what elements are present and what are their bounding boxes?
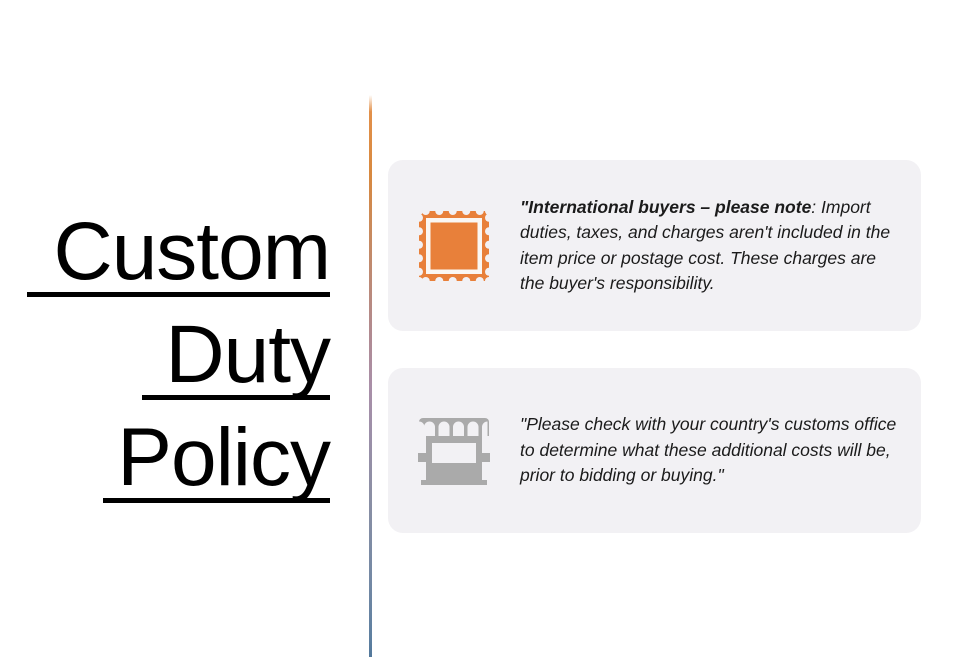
title-line-2-text: Duty bbox=[165, 309, 330, 400]
card-2-icon-slot bbox=[388, 412, 520, 490]
card-2-rest-text: "Please check with your country's custom… bbox=[520, 414, 896, 485]
page-title: Custom Duty Policy bbox=[0, 196, 330, 505]
title-line-3: Policy bbox=[0, 402, 330, 505]
card-1-icon-slot bbox=[388, 207, 520, 285]
card-2-text-slot: "Please check with your country's custom… bbox=[520, 412, 921, 489]
slide-canvas: Custom Duty Policy bbox=[0, 0, 960, 660]
title-line-2: Duty bbox=[0, 299, 330, 402]
postage-stamp-icon bbox=[415, 207, 493, 285]
info-card-international-buyers[interactable]: "International buyers – please note: Imp… bbox=[388, 160, 921, 331]
market-stall-icon bbox=[415, 412, 493, 490]
card-1-lead-text: "International buyers – please note bbox=[520, 197, 811, 217]
card-1-text-slot: "International buyers – please note: Imp… bbox=[520, 195, 921, 297]
card-1-body: "International buyers – please note: Imp… bbox=[520, 195, 903, 297]
vertical-gradient-divider bbox=[369, 95, 372, 657]
title-line-3-text: Policy bbox=[117, 412, 330, 503]
title-line-1: Custom bbox=[0, 196, 330, 299]
card-2-body: "Please check with your country's custom… bbox=[520, 412, 903, 489]
info-card-customs-office[interactable]: "Please check with your country's custom… bbox=[388, 368, 921, 533]
title-line-1-text: Custom bbox=[53, 206, 330, 297]
